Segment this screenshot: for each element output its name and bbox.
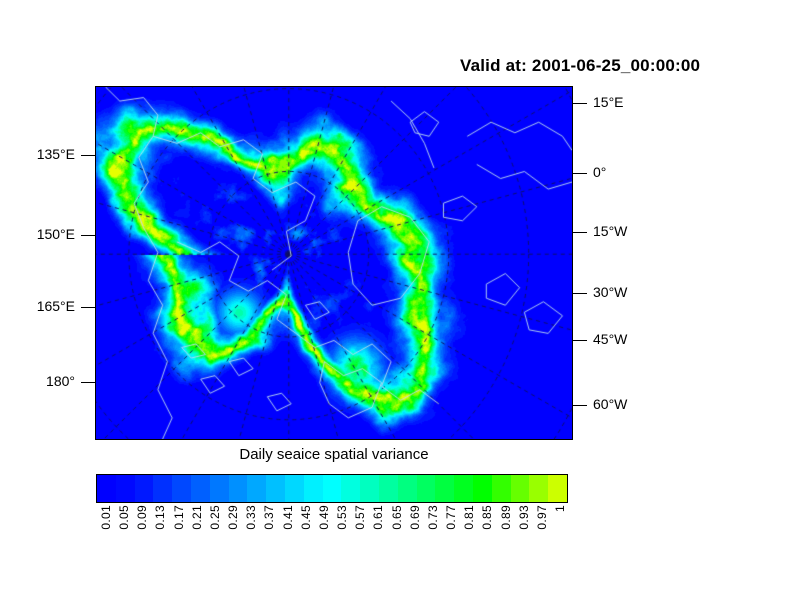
colorbar-tick-label: 0.45 xyxy=(299,505,313,530)
colorbar-tick-label: 0.69 xyxy=(408,505,422,530)
right-tick-mark xyxy=(573,173,587,174)
colorbar-swatch xyxy=(323,475,342,502)
colorbar-tick-label: 0.77 xyxy=(444,505,458,530)
right-tick-mark xyxy=(573,340,587,341)
colorbar-tick-label: 0.25 xyxy=(208,505,222,530)
colorbar-swatch xyxy=(473,475,492,502)
colorbar-tick-label: 0.41 xyxy=(281,505,295,530)
colorbar-swatch xyxy=(379,475,398,502)
left-tick-mark xyxy=(81,382,95,383)
right-tick-label: 30°W xyxy=(593,284,627,300)
colorbar-tick-label: 0.37 xyxy=(262,505,276,530)
colorbar-tick-label: 0.65 xyxy=(390,505,404,530)
colorbar-swatch xyxy=(210,475,229,502)
left-tick-mark xyxy=(81,155,95,156)
colorbar-swatch xyxy=(153,475,172,502)
colorbar-swatch xyxy=(172,475,191,502)
colorbar-tick-label: 0.89 xyxy=(499,505,513,530)
colorbar-caption: Daily seaice spatial variance xyxy=(95,446,573,463)
colorbar-swatch xyxy=(435,475,454,502)
colorbar-tick-label: 0.53 xyxy=(335,505,349,530)
right-tick-label: 15°E xyxy=(593,94,624,110)
colorbar-swatch xyxy=(511,475,530,502)
right-tick-label: 15°W xyxy=(593,223,627,239)
colorbar-swatch xyxy=(360,475,379,502)
right-tick-mark xyxy=(573,232,587,233)
colorbar-tick-label: 0.33 xyxy=(244,505,258,530)
map-plot-area xyxy=(95,86,573,440)
colorbar-tick-label: 0.17 xyxy=(172,505,186,530)
page-title: Valid at: 2001-06-25_00:00:00 xyxy=(460,56,772,76)
colorbar-swatch xyxy=(247,475,266,502)
right-tick-label: 60°W xyxy=(593,396,627,412)
seaice-variance-raster xyxy=(96,87,572,439)
colorbar-tick-label: 0.13 xyxy=(153,505,167,530)
colorbar-swatch xyxy=(304,475,323,502)
colorbar-swatch xyxy=(135,475,154,502)
colorbar-swatch xyxy=(266,475,285,502)
colorbar-tick-label: 0.97 xyxy=(535,505,549,530)
colorbar-tick-label: 0.09 xyxy=(135,505,149,530)
colorbar-swatch xyxy=(492,475,511,502)
colorbar-tick-label: 0.05 xyxy=(117,505,131,530)
colorbar-tick-label: 0.81 xyxy=(462,505,476,530)
colorbar-swatch xyxy=(529,475,548,502)
colorbar-swatch xyxy=(229,475,248,502)
colorbar-tick-label: 0.21 xyxy=(190,505,204,530)
colorbar-swatch xyxy=(341,475,360,502)
colorbar-swatch xyxy=(97,475,116,502)
colorbar-swatch xyxy=(116,475,135,502)
colorbar xyxy=(96,474,568,503)
colorbar-swatch xyxy=(191,475,210,502)
colorbar-tick-label: 0.57 xyxy=(353,505,367,530)
colorbar-tick-label: 0.61 xyxy=(371,505,385,530)
colorbar-tick-label: 1 xyxy=(553,505,567,512)
left-tick-mark xyxy=(81,307,95,308)
colorbar-tick-label: 0.01 xyxy=(99,505,113,530)
left-tick-label: 165°E xyxy=(7,298,75,314)
colorbar-tick-label: 0.73 xyxy=(426,505,440,530)
left-tick-label: 135°E xyxy=(7,146,75,162)
colorbar-tick-labels: 0.010.050.090.130.170.210.250.290.330.37… xyxy=(96,505,568,565)
right-tick-mark xyxy=(573,405,587,406)
colorbar-swatch xyxy=(454,475,473,502)
colorbar-swatch xyxy=(398,475,417,502)
colorbar-swatch xyxy=(548,475,567,502)
right-tick-label: 0° xyxy=(593,164,606,180)
left-tick-label: 180° xyxy=(7,373,75,389)
right-tick-mark xyxy=(573,103,587,104)
colorbar-tick-label: 0.93 xyxy=(517,505,531,530)
figure: Valid at: 2001-06-25_00:00:00 135°E150°E… xyxy=(0,0,792,612)
right-tick-label: 45°W xyxy=(593,331,627,347)
left-tick-label: 150°E xyxy=(7,226,75,242)
colorbar-swatch xyxy=(285,475,304,502)
right-tick-mark xyxy=(573,293,587,294)
colorbar-tick-label: 0.49 xyxy=(317,505,331,530)
colorbar-tick-label: 0.29 xyxy=(226,505,240,530)
colorbar-tick-label: 0.85 xyxy=(480,505,494,530)
colorbar-swatch xyxy=(417,475,436,502)
left-tick-mark xyxy=(81,235,95,236)
